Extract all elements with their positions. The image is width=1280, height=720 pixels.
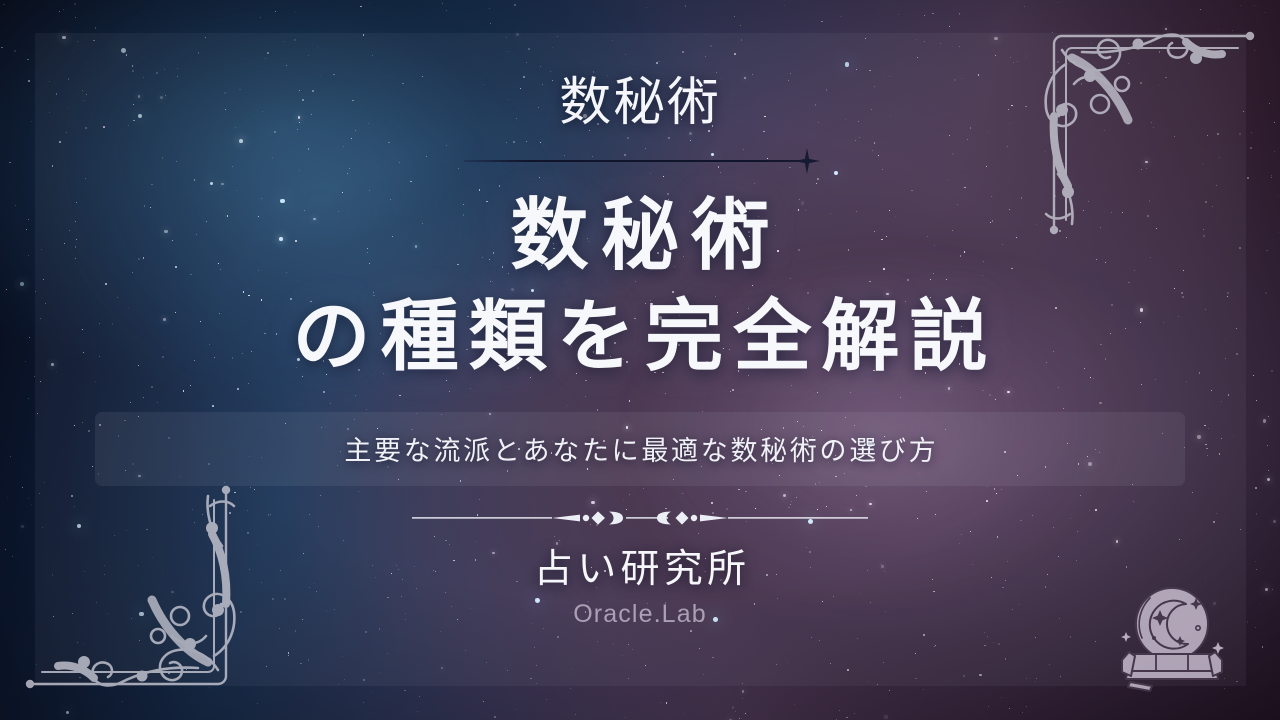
content-column: 数秘術 数秘術 の種類を完全解説 主要な流派とあなたに最適な数秘術の選び方 — [0, 0, 1280, 720]
top-divider — [464, 153, 816, 169]
subtitle-band: 主要な流派とあなたに最適な数秘術の選び方 — [95, 412, 1185, 486]
title-line-1: 数秘術 — [282, 185, 997, 286]
four-point-star-icon — [794, 148, 820, 174]
brand-name-ja: 占い研究所 — [530, 538, 751, 594]
eyebrow-label: 数秘術 — [559, 78, 720, 130]
crystal-ball-icon — [1112, 576, 1232, 692]
page-title: 数秘術 の種類を完全解説 — [282, 185, 997, 388]
top-divider-line — [464, 160, 800, 162]
title-line-2: の種類を完全解説 — [282, 286, 997, 387]
title-slide: 数秘術 数秘術 の種類を完全解説 主要な流派とあなたに最適な数秘術の選び方 — [0, 0, 1280, 720]
brand-name-en: Oracle.Lab — [573, 600, 707, 629]
bottom-divider — [412, 509, 868, 527]
fleuron-divider-icon — [412, 509, 868, 527]
subtitle-text: 主要な流派とあなたに最適な数秘術の選び方 — [105, 429, 1175, 468]
